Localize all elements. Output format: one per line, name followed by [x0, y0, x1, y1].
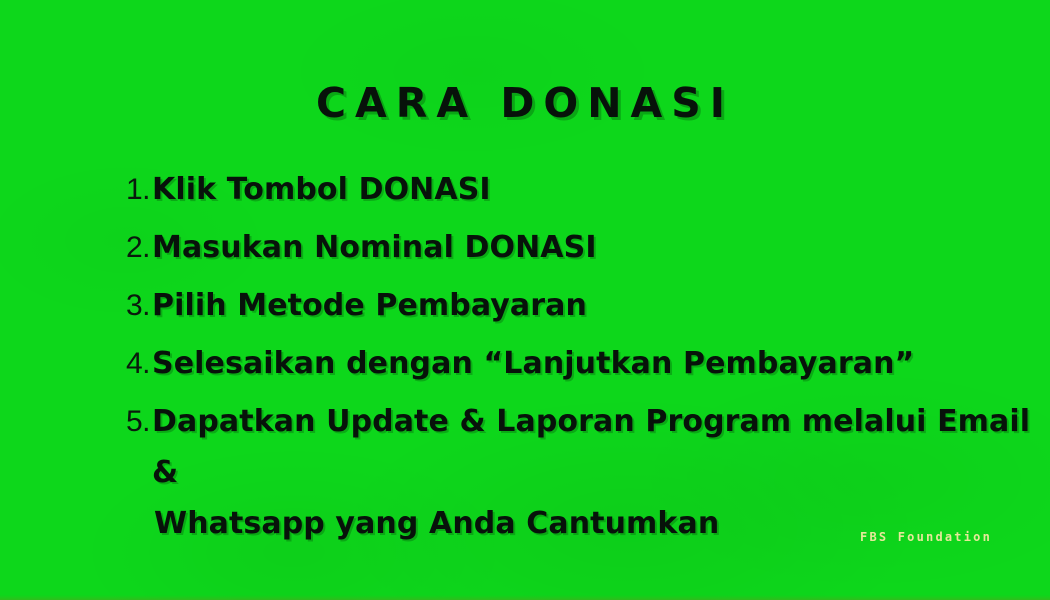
list-item-label-line1: Dapatkan Update & Laporan Program melalu…	[152, 404, 1030, 490]
list-item-label: Pilih Metode Pembayaran	[150, 280, 1050, 331]
list-item-number: 2.	[112, 226, 150, 270]
list-item: 3. Pilih Metode Pembayaran	[112, 280, 1050, 331]
list-item: 1. Klik Tombol DONASI	[112, 164, 1050, 215]
slide-canvas: CARA DONASI 1. Klik Tombol DONASI 2. Mas…	[0, 0, 1050, 600]
list-item-label: Klik Tombol DONASI	[150, 164, 1050, 215]
list-item-number: 3.	[112, 284, 150, 328]
page-title: CARA DONASI	[0, 79, 1050, 127]
list-item-label: Dapatkan Update & Laporan Program melalu…	[150, 396, 1050, 549]
list-item-label: Masukan Nominal DONASI	[150, 222, 1050, 273]
list-item: 4. Selesaikan dengan “Lanjutkan Pembayar…	[112, 338, 1050, 389]
list-item-number: 5.	[112, 400, 150, 444]
list-item-number: 4.	[112, 342, 150, 386]
steps-list: 1. Klik Tombol DONASI 2. Masukan Nominal…	[72, 164, 1050, 556]
list-item-label: Selesaikan dengan “Lanjutkan Pembayaran”	[150, 338, 1050, 389]
list-item: 2. Masukan Nominal DONASI	[112, 222, 1050, 273]
list-item-number: 1.	[112, 168, 150, 212]
list-item: 5. Dapatkan Update & Laporan Program mel…	[112, 396, 1050, 549]
footer-brand: FBS Foundation	[860, 530, 992, 544]
